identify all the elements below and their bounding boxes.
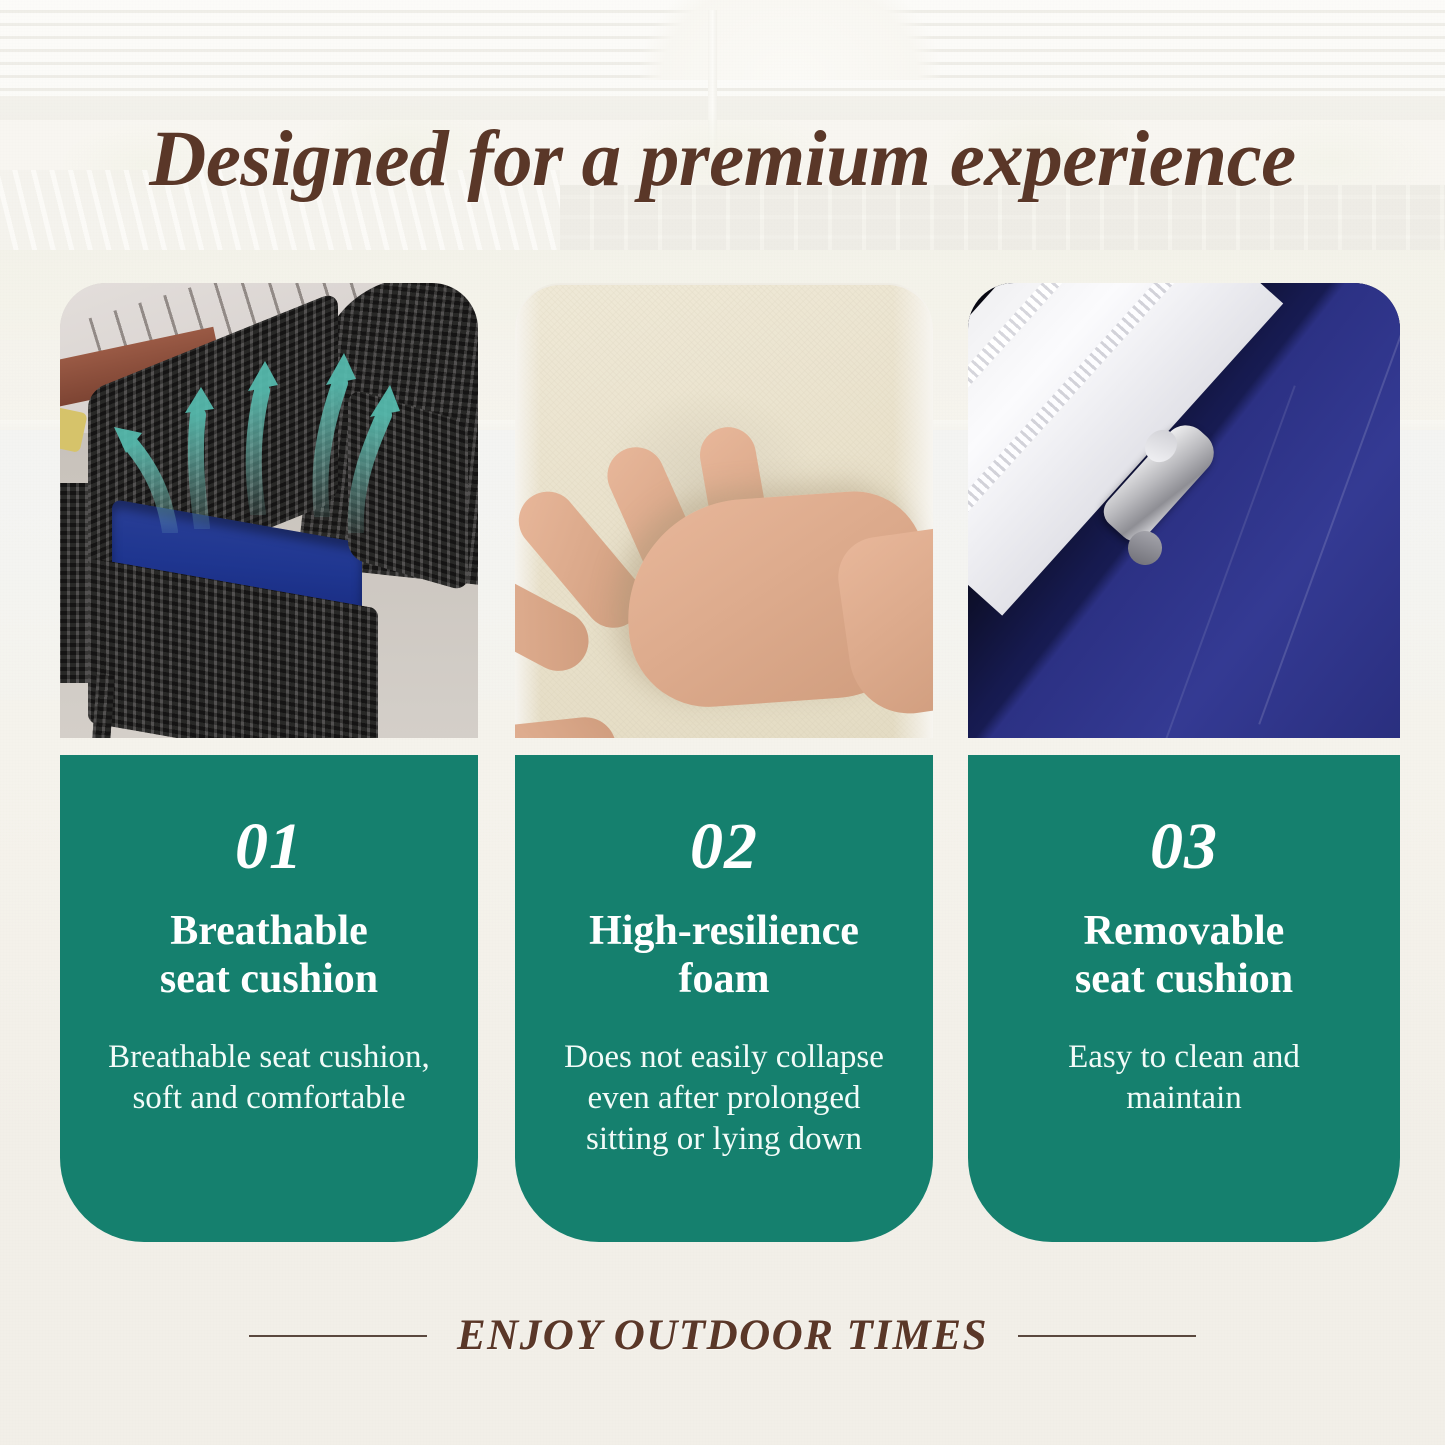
feature-number: 02 <box>537 813 911 881</box>
footer-rule-left <box>249 1335 427 1337</box>
feature-description: Breathable seat cushion, soft and comfor… <box>82 1037 456 1119</box>
feature-card-3: 03 Removable seat cushion Easy to clean … <box>968 755 1400 1242</box>
feature-column-2 <box>515 283 933 738</box>
photo-breathable-cushion <box>60 283 478 738</box>
feature-description: Easy to clean and maintain <box>990 1037 1378 1119</box>
feature-card-2: 02 High-resilience foam Does not easily … <box>515 755 933 1242</box>
footer-text: ENJOY OUTDOOR TIMES <box>457 1312 988 1360</box>
feature-column-3 <box>968 283 1400 738</box>
infographic-canvas: Designed for a premium experience <box>0 0 1445 1445</box>
photo-high-resilience-foam <box>515 283 933 738</box>
feature-number: 03 <box>990 813 1378 881</box>
feature-title: High-resilience foam <box>537 907 911 1003</box>
footer-tagline: ENJOY OUTDOOR TIMES <box>0 1312 1445 1360</box>
airflow-arrow-icon <box>232 355 292 515</box>
photo1-yellow-object <box>60 405 88 453</box>
photo-removable-cover-zipper <box>968 283 1400 738</box>
footer-rule-right <box>1018 1335 1196 1337</box>
airflow-arrow-icon <box>342 373 408 533</box>
airflow-arrow-icon <box>172 379 232 529</box>
feature-title: Removable seat cushion <box>990 907 1378 1003</box>
feature-column-1 <box>60 283 478 738</box>
feature-description: Does not easily collapse even after prol… <box>537 1037 911 1160</box>
feature-title: Breathable seat cushion <box>82 907 456 1003</box>
feature-card-1: 01 Breathable seat cushion Breathable se… <box>60 755 478 1242</box>
feature-number: 01 <box>82 813 456 881</box>
